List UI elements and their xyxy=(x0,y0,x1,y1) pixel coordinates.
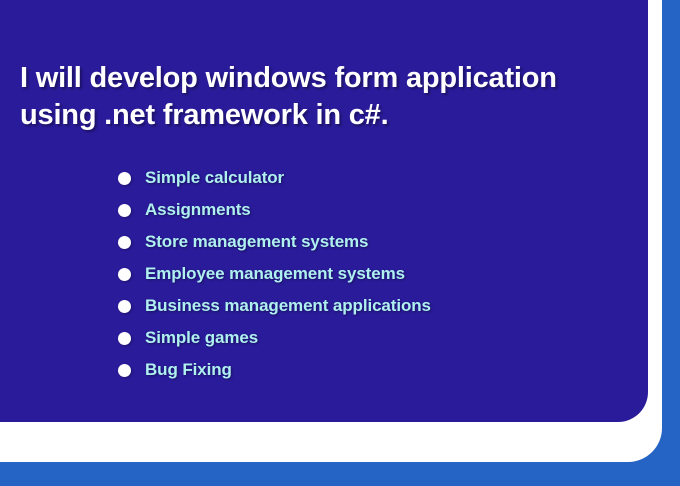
feature-label: Business management applications xyxy=(145,296,431,316)
bullet-dot-icon xyxy=(118,172,131,185)
feature-label: Store management systems xyxy=(145,232,368,252)
bullet-dot-icon xyxy=(118,332,131,345)
bullet-dot-icon xyxy=(118,268,131,281)
headline-line-1: I will develop windows form application xyxy=(20,60,636,97)
bullet-dot-icon xyxy=(118,236,131,249)
list-item: Assignments xyxy=(118,194,431,226)
list-item: Business management applications xyxy=(118,290,431,322)
list-item: Store management systems xyxy=(118,226,431,258)
bullet-dot-icon xyxy=(118,364,131,377)
feature-label: Bug Fixing xyxy=(145,360,232,380)
feature-label: Simple calculator xyxy=(145,168,284,188)
list-item: Bug Fixing xyxy=(118,354,431,386)
headline: I will develop windows form application … xyxy=(20,60,636,134)
feature-label: Employee management systems xyxy=(145,264,405,284)
headline-line-2: using .net framework in c#. xyxy=(20,97,636,134)
list-item: Simple calculator xyxy=(118,162,431,194)
feature-list: Simple calculator Assignments Store mana… xyxy=(118,162,431,386)
main-card: I will develop windows form application … xyxy=(0,0,648,422)
list-item: Simple games xyxy=(118,322,431,354)
feature-label: Assignments xyxy=(145,200,251,220)
bullet-dot-icon xyxy=(118,204,131,217)
bullet-dot-icon xyxy=(118,300,131,313)
gig-thumbnail-canvas: I will develop windows form application … xyxy=(0,0,680,486)
feature-label: Simple games xyxy=(145,328,258,348)
list-item: Employee management systems xyxy=(118,258,431,290)
